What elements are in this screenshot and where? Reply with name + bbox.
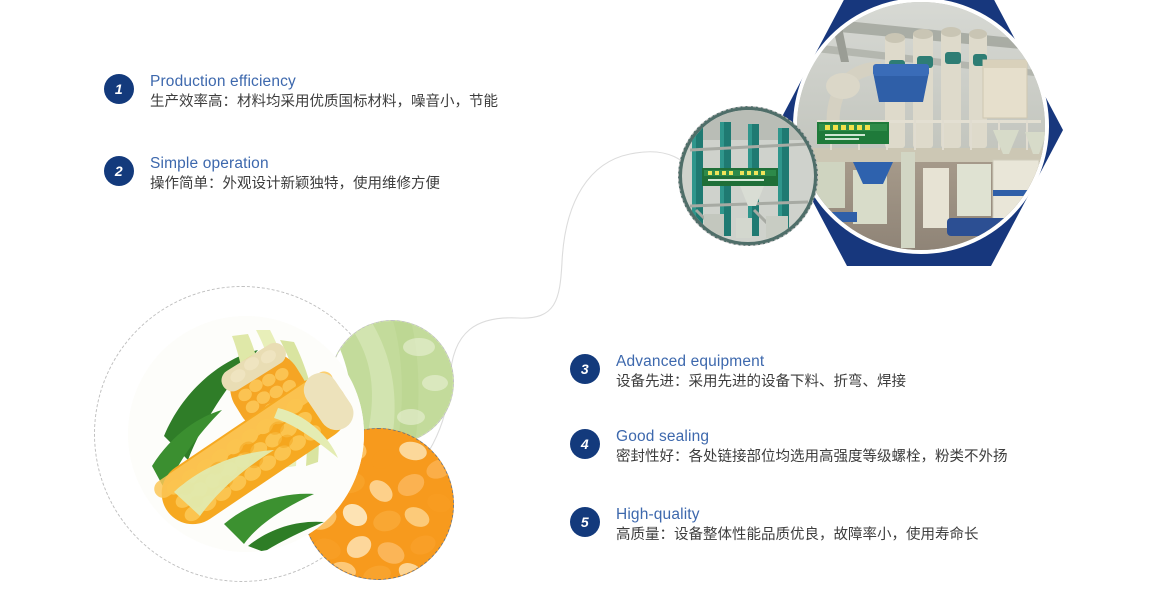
feature-item-2[interactable]: 2 Simple operation 操作简单：外观设计新颖独特，使用维修方便 [104, 154, 440, 195]
feature-item-5[interactable]: 5 High-quality 高质量：设备整体性能品质优良，故障率小，使用寿命长 [570, 505, 979, 546]
hexagon-photo [793, 0, 1049, 254]
feature-title-4: Good sealing [616, 427, 1008, 446]
corn-cob-photo [128, 316, 364, 552]
feature-desc-4: 密封性好：各处链接部位均选用高强度等级螺栓，粉类不外扬 [616, 447, 1008, 468]
feature-text-1: Production efficiency 生产效率高：材料均采用优质国标材料，… [150, 72, 498, 113]
feature-badge-3: 3 [570, 354, 600, 384]
feature-desc-2: 操作简单：外观设计新颖独特，使用维修方便 [150, 174, 440, 195]
feature-text-5: High-quality 高质量：设备整体性能品质优良，故障率小，使用寿命长 [616, 505, 979, 546]
corn-photo-group [90, 280, 490, 591]
feature-desc-5: 高质量：设备整体性能品质优良，故障率小，使用寿命长 [616, 525, 979, 546]
feature-item-1[interactable]: 1 Production efficiency 生产效率高：材料均采用优质国标材… [104, 72, 498, 113]
feature-text-2: Simple operation 操作简单：外观设计新颖独特，使用维修方便 [150, 154, 440, 195]
feature-title-1: Production efficiency [150, 72, 498, 91]
hexagon-small-photo [678, 106, 818, 246]
feature-item-3[interactable]: 3 Advanced equipment 设备先进：采用先进的设备下料、折弯、焊… [570, 352, 906, 393]
feature-badge-4: 4 [570, 429, 600, 459]
feature-badge-1: 1 [104, 74, 134, 104]
feature-item-4[interactable]: 4 Good sealing 密封性好：各处链接部位均选用高强度等级螺栓，粉类不… [570, 427, 1008, 468]
feature-desc-1: 生产效率高：材料均采用优质国标材料，噪音小，节能 [150, 92, 498, 113]
feature-title-3: Advanced equipment [616, 352, 906, 371]
feature-title-2: Simple operation [150, 154, 440, 173]
feature-desc-3: 设备先进：采用先进的设备下料、折弯、焊接 [616, 372, 906, 393]
feature-badge-5: 5 [570, 507, 600, 537]
infographic-page: 1 Production efficiency 生产效率高：材料均采用优质国标材… [0, 0, 1154, 591]
feature-text-4: Good sealing 密封性好：各处链接部位均选用高强度等级螺栓，粉类不外扬 [616, 427, 1008, 468]
feature-badge-2: 2 [104, 156, 134, 186]
hexagon-photo-group [660, 0, 1154, 284]
feature-text-3: Advanced equipment 设备先进：采用先进的设备下料、折弯、焊接 [616, 352, 906, 393]
feature-title-5: High-quality [616, 505, 979, 524]
